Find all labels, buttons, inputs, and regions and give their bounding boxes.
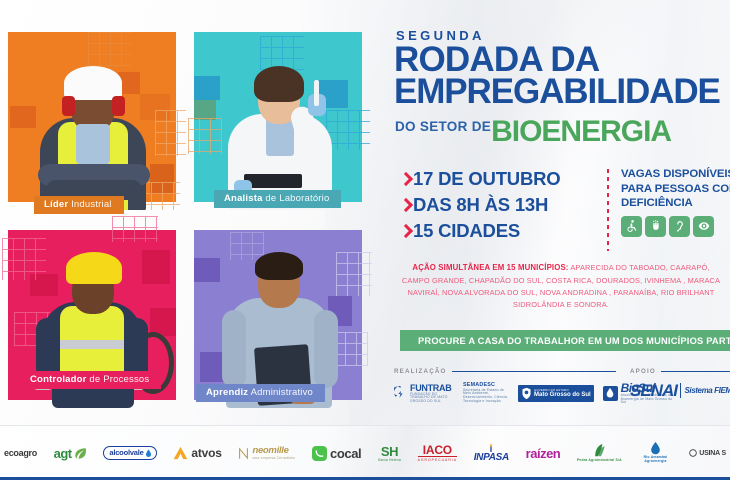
photo-panel-analista-laboratorio (186, 14, 372, 210)
logo-senai: SENAI Sistema FIEMS (630, 382, 730, 399)
figure-hair (255, 252, 303, 280)
photo-label-analista-laboratorio: Analista de Laboratório (214, 190, 341, 208)
logo-agt: agt (54, 447, 87, 460)
biosul-droplet-icon (603, 386, 618, 401)
accessibility-line-2: PARA PESSOAS COM (621, 182, 730, 197)
figure-test-tube-rack (244, 174, 302, 188)
apoio-label: APOIO (630, 368, 656, 375)
person-figure (204, 54, 354, 210)
hearing-icon (669, 216, 690, 237)
low-vision-icon (693, 216, 714, 237)
apoio-heading: APOIO (630, 368, 730, 375)
divider (452, 371, 616, 373)
logo-iaco: IACO AGROPECUÁRIA (418, 444, 457, 462)
divider (661, 371, 730, 373)
logo-raizen: raízen (526, 447, 561, 460)
realizacao-heading: REALIZAÇÃO (394, 368, 616, 375)
logo-rio-amambai: Rio Amambai Agroenergia (639, 442, 673, 463)
photo-label-aprendiz-administrativo: Aprendiz Administrativo (196, 384, 325, 402)
photo-label-lider-industrial: Líder Industrial (34, 196, 124, 214)
list-item: DAS 8H ÀS 13H (400, 194, 560, 216)
event-hours: DAS 8H ÀS 13H (413, 194, 548, 216)
photo-label-controlador-processos: Controlador de Processos (20, 371, 161, 389)
headline-line-2: EMPREGABILIDADE (394, 76, 720, 109)
municipalities-line-1: AÇÃO SIMULTÂNEA EM 15 MUNICÍPIOS: APAREC… (392, 262, 730, 275)
figure-ear-defender (62, 96, 75, 116)
photo-panel-aprendiz-administrativo (186, 212, 372, 408)
logo-atvos: atvos (173, 446, 221, 460)
figure-vest-stripe (60, 340, 124, 349)
event-date: 17 DE OUTUBRO (413, 168, 560, 190)
figure-hair (254, 66, 304, 102)
sponsors-section: REALIZAÇÃO FUNTRAB FUNDAÇÃO DO TRABALHO … (392, 368, 730, 418)
list-item: 15 CIDADES (400, 220, 560, 242)
realizacao-group: REALIZAÇÃO FUNTRAB FUNDAÇÃO DO TRABALHO … (394, 368, 616, 405)
figure-test-tube (314, 80, 319, 106)
figure-hard-hat (64, 66, 122, 100)
logo-pedra-agroindustrial: Pedra Agroindustrial S/A (577, 444, 622, 462)
realizacao-logos: FUNTRAB FUNDAÇÃO DO TRABALHO DE MATO GRO… (394, 382, 616, 405)
rio-amambai-mark-icon (649, 442, 662, 455)
municipalities-line-4: SIDROLÂNDIA E SONORA. (392, 299, 730, 311)
figure-arm (314, 310, 338, 388)
participating-municipalities: AÇÃO SIMULTÂNEA EM 15 MUNICÍPIOS: APAREC… (392, 262, 730, 311)
logo-semadesc: SEMADESC Secretaria de Estado de Meio Am… (463, 383, 509, 403)
photo-panel-lider-industrial (0, 14, 186, 210)
logo-funtrab-sub: FUNDAÇÃO DO TRABALHO DE MATO GROSSO DO S… (410, 393, 454, 404)
partner-logo-strip: ecoagro agt alcoolvale atvos neomille um… (0, 425, 730, 480)
logo-usina-santa: USINA S (689, 449, 726, 457)
chevron-right-icon (400, 171, 413, 187)
logo-funtrab: FUNTRAB FUNDAÇÃO DO TRABALHO DE MATO GRO… (394, 384, 454, 404)
event-content: SEGUNDA RODADA DA EMPREGABILIDADE DO SET… (392, 0, 730, 425)
accessibility-line-1: VAGAS DISPONÍVEIS (621, 167, 730, 182)
headline-sub-small: DO SETOR DE (395, 119, 491, 134)
logo-governo-ms: GOVERNO DO ESTADO Mato Grosso do Sul (518, 385, 594, 402)
accessibility-line-3: DEFICIÊNCIA (621, 196, 730, 211)
cocal-mark-icon (312, 446, 327, 461)
neomille-mark-icon (238, 447, 249, 460)
figure-collar (76, 124, 110, 164)
logo-semadesc-sub: Secretaria de Estado de Meio Ambiente, D… (463, 389, 509, 404)
logo-santa-helena: SH Santa Helena (378, 445, 401, 462)
chevron-right-icon (400, 197, 413, 213)
logo-cocal: cocal (312, 446, 361, 461)
sign-language-icon (645, 216, 666, 237)
figure-hard-hat (66, 252, 122, 284)
apoio-group: APOIO SENAI Sistema FIEMS (630, 368, 730, 399)
coat-of-arms-icon (521, 387, 532, 400)
headline-sub-big: BIOENERGIA (491, 115, 671, 148)
person-figure (18, 60, 168, 210)
municipalities-line-3: NAVIRAÍ, NOVA ALVORADA DO SUL, NOVA ANDR… (392, 287, 730, 299)
figure-ear-defender (112, 96, 125, 116)
realizacao-label: REALIZAÇÃO (394, 368, 447, 375)
logo-ecoagro: ecoagro (4, 449, 37, 458)
logo-senai-text: SENAI (630, 382, 677, 399)
apoio-logos: SENAI Sistema FIEMS (630, 382, 730, 399)
funtrab-mark-icon (394, 386, 407, 401)
atvos-mark-icon (173, 446, 188, 460)
droplet-icon (146, 449, 151, 458)
accessibility-icon-row (621, 216, 730, 237)
copyright-mark-icon (689, 449, 697, 457)
promotional-banner: Líder Industrial Analista de Laboratório… (0, 0, 730, 480)
chevron-right-icon (400, 223, 413, 239)
inpasa-mark-icon (487, 443, 495, 452)
logo-governo-text: Mato Grosso do Sul (534, 392, 591, 398)
logo-inpasa: INPASA (474, 443, 509, 463)
accessibility-vacancies-block: VAGAS DISPONÍVEIS PARA PESSOAS COM DEFIC… (607, 167, 730, 237)
call-to-action-bar[interactable]: PROCURE A CASA DO TRABALHOR EM UM DOS MU… (400, 330, 730, 351)
divider (680, 383, 682, 398)
headline-subline: DO SETOR DEBIOENERGIA (395, 115, 671, 149)
event-cities-count: 15 CIDADES (413, 220, 520, 242)
event-details-list: 17 DE OUTUBRO DAS 8H ÀS 13H 15 CIDADES (400, 168, 560, 246)
photo-collage: Líder Industrial Analista de Laboratório… (0, 0, 372, 425)
figure-arm (222, 310, 246, 388)
municipalities-line-2: CAMPO GRANDE, CHAPADÃO DO SUL, COSTA RIC… (392, 275, 730, 287)
decor-grid (112, 216, 158, 242)
leaf-icon (74, 447, 87, 460)
logo-alcoolvale: alcoolvale (103, 446, 156, 460)
wheelchair-icon (621, 216, 642, 237)
list-item: 17 DE OUTUBRO (400, 168, 560, 190)
logo-neomille: neomille uma empresa Cerradinho (238, 446, 295, 460)
pedra-mark-icon (593, 444, 606, 457)
logo-fiems-text: Sistema FIEMS (684, 387, 730, 395)
